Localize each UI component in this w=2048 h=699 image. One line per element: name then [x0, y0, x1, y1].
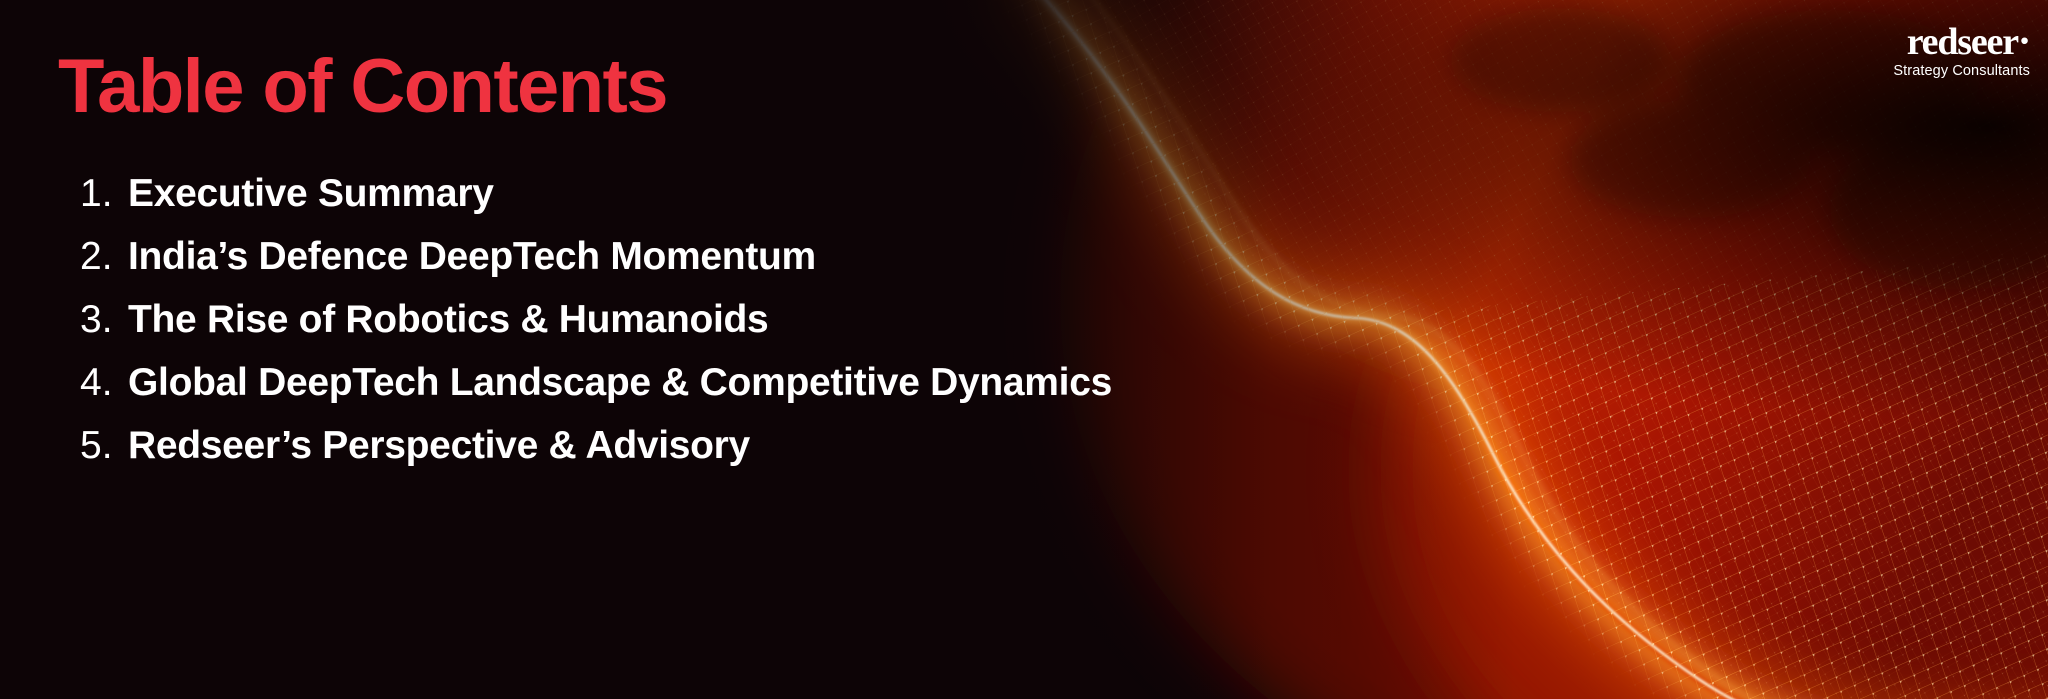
page-title: Table of Contents — [58, 47, 667, 127]
toc-item-4[interactable]: 4. Global DeepTech Landscape & Competiti… — [80, 361, 1112, 424]
toc-item-1-label: Executive Summary — [128, 172, 494, 216]
toc-item-2-label: India’s Defence DeepTech Momentum — [128, 235, 816, 279]
logo-wordmark: redseer· — [1893, 22, 2030, 60]
redseer-logo: redseer· Strategy Consultants — [1893, 22, 2030, 79]
toc-item-4-label: Global DeepTech Landscape & Competitive … — [128, 361, 1112, 405]
logo-wordmark-text: redseer — [1907, 21, 2018, 63]
toc-item-1[interactable]: 1. Executive Summary — [80, 172, 1112, 235]
toc-item-3-number: 3. — [80, 298, 128, 342]
slide-root: redseer· Strategy Consultants Table of C… — [0, 0, 2048, 699]
toc-item-2-number: 2. — [80, 235, 128, 279]
table-of-contents-list: 1. Executive Summary 2. India’s Defence … — [80, 172, 1112, 487]
toc-item-3[interactable]: 3. The Rise of Robotics & Humanoids — [80, 298, 1112, 361]
toc-item-2[interactable]: 2. India’s Defence DeepTech Momentum — [80, 235, 1112, 298]
toc-item-1-number: 1. — [80, 172, 128, 216]
toc-item-5-label: Redseer’s Perspective & Advisory — [128, 424, 750, 468]
logo-dot: · — [2018, 18, 2030, 63]
toc-item-5-number: 5. — [80, 424, 128, 468]
toc-item-3-label: The Rise of Robotics & Humanoids — [128, 298, 768, 342]
logo-tagline: Strategy Consultants — [1893, 64, 2030, 79]
toc-item-5[interactable]: 5. Redseer’s Perspective & Advisory — [80, 424, 1112, 487]
toc-item-4-number: 4. — [80, 361, 128, 405]
